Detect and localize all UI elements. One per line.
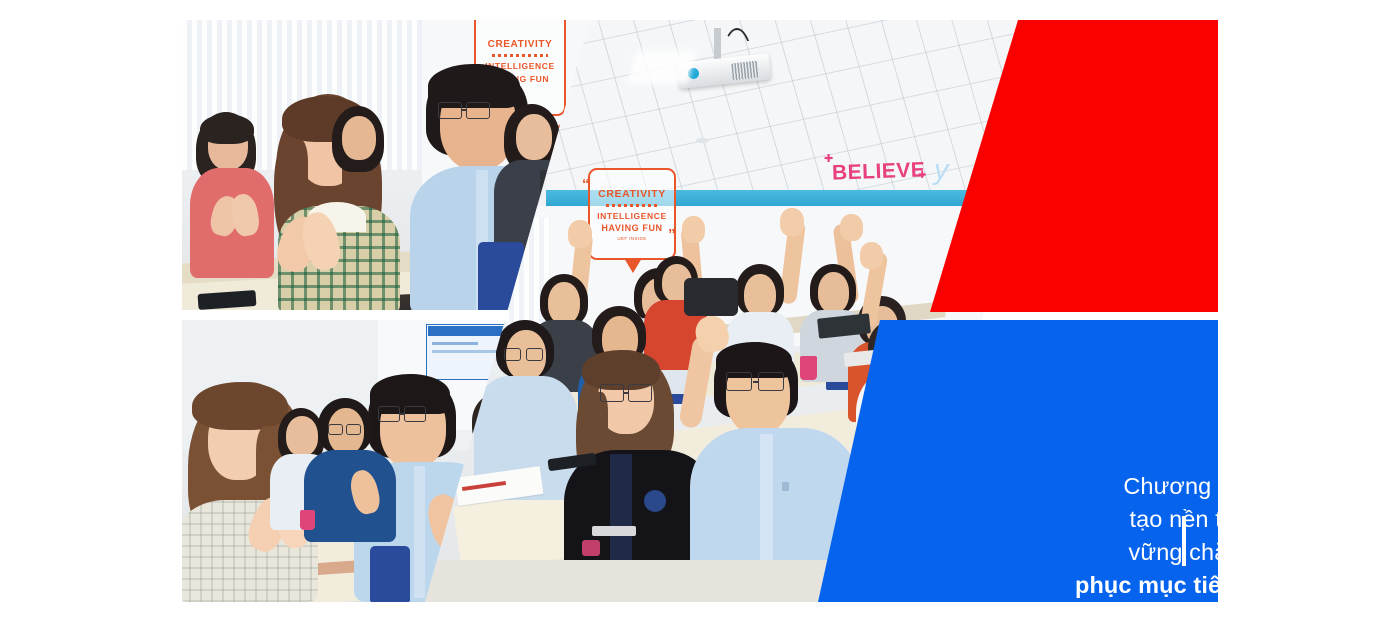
headline-line-3-normal: vững chắc để <box>1129 539 1279 565</box>
cup-pink <box>800 356 817 380</box>
wall-text-believe: BELIEVE <box>832 158 926 185</box>
headline-line-4: phục mục tiêu cao hơn. <box>1042 569 1342 602</box>
headline-line-2: tạo nền tảng tri thức <box>1042 503 1342 536</box>
wall-text-believe-tail: y <box>934 154 949 187</box>
eyeglasses <box>438 102 462 119</box>
headline-line-3-bold: chinh <box>1279 539 1342 565</box>
headline-line-1: Chương trình thạc sĩ <box>1042 470 1342 503</box>
headline-accent-bar <box>1182 516 1186 566</box>
blue-panel-headline: Chương trình thạc sĩ tạo nền tảng tri th… <box>1042 470 1342 602</box>
banner-stage: CREATIVITY INTELLIGENCE HAVING FUN <box>0 0 1400 638</box>
poster-line-1: CREATIVITY <box>488 39 553 50</box>
wall-poster-creativity-center: CREATIVITY INTELLIGENCE HAVING FUN UEF I… <box>588 168 676 260</box>
headline-line-3: vững chắc để chinh <box>1042 536 1342 569</box>
poster-line-1: CREATIVITY <box>598 188 666 200</box>
poster-line-3: HAVING FUN <box>601 223 662 233</box>
poster-footnote: UEF INSIDE <box>617 236 646 241</box>
poster-line-2: INTELLIGENCE <box>597 211 667 221</box>
